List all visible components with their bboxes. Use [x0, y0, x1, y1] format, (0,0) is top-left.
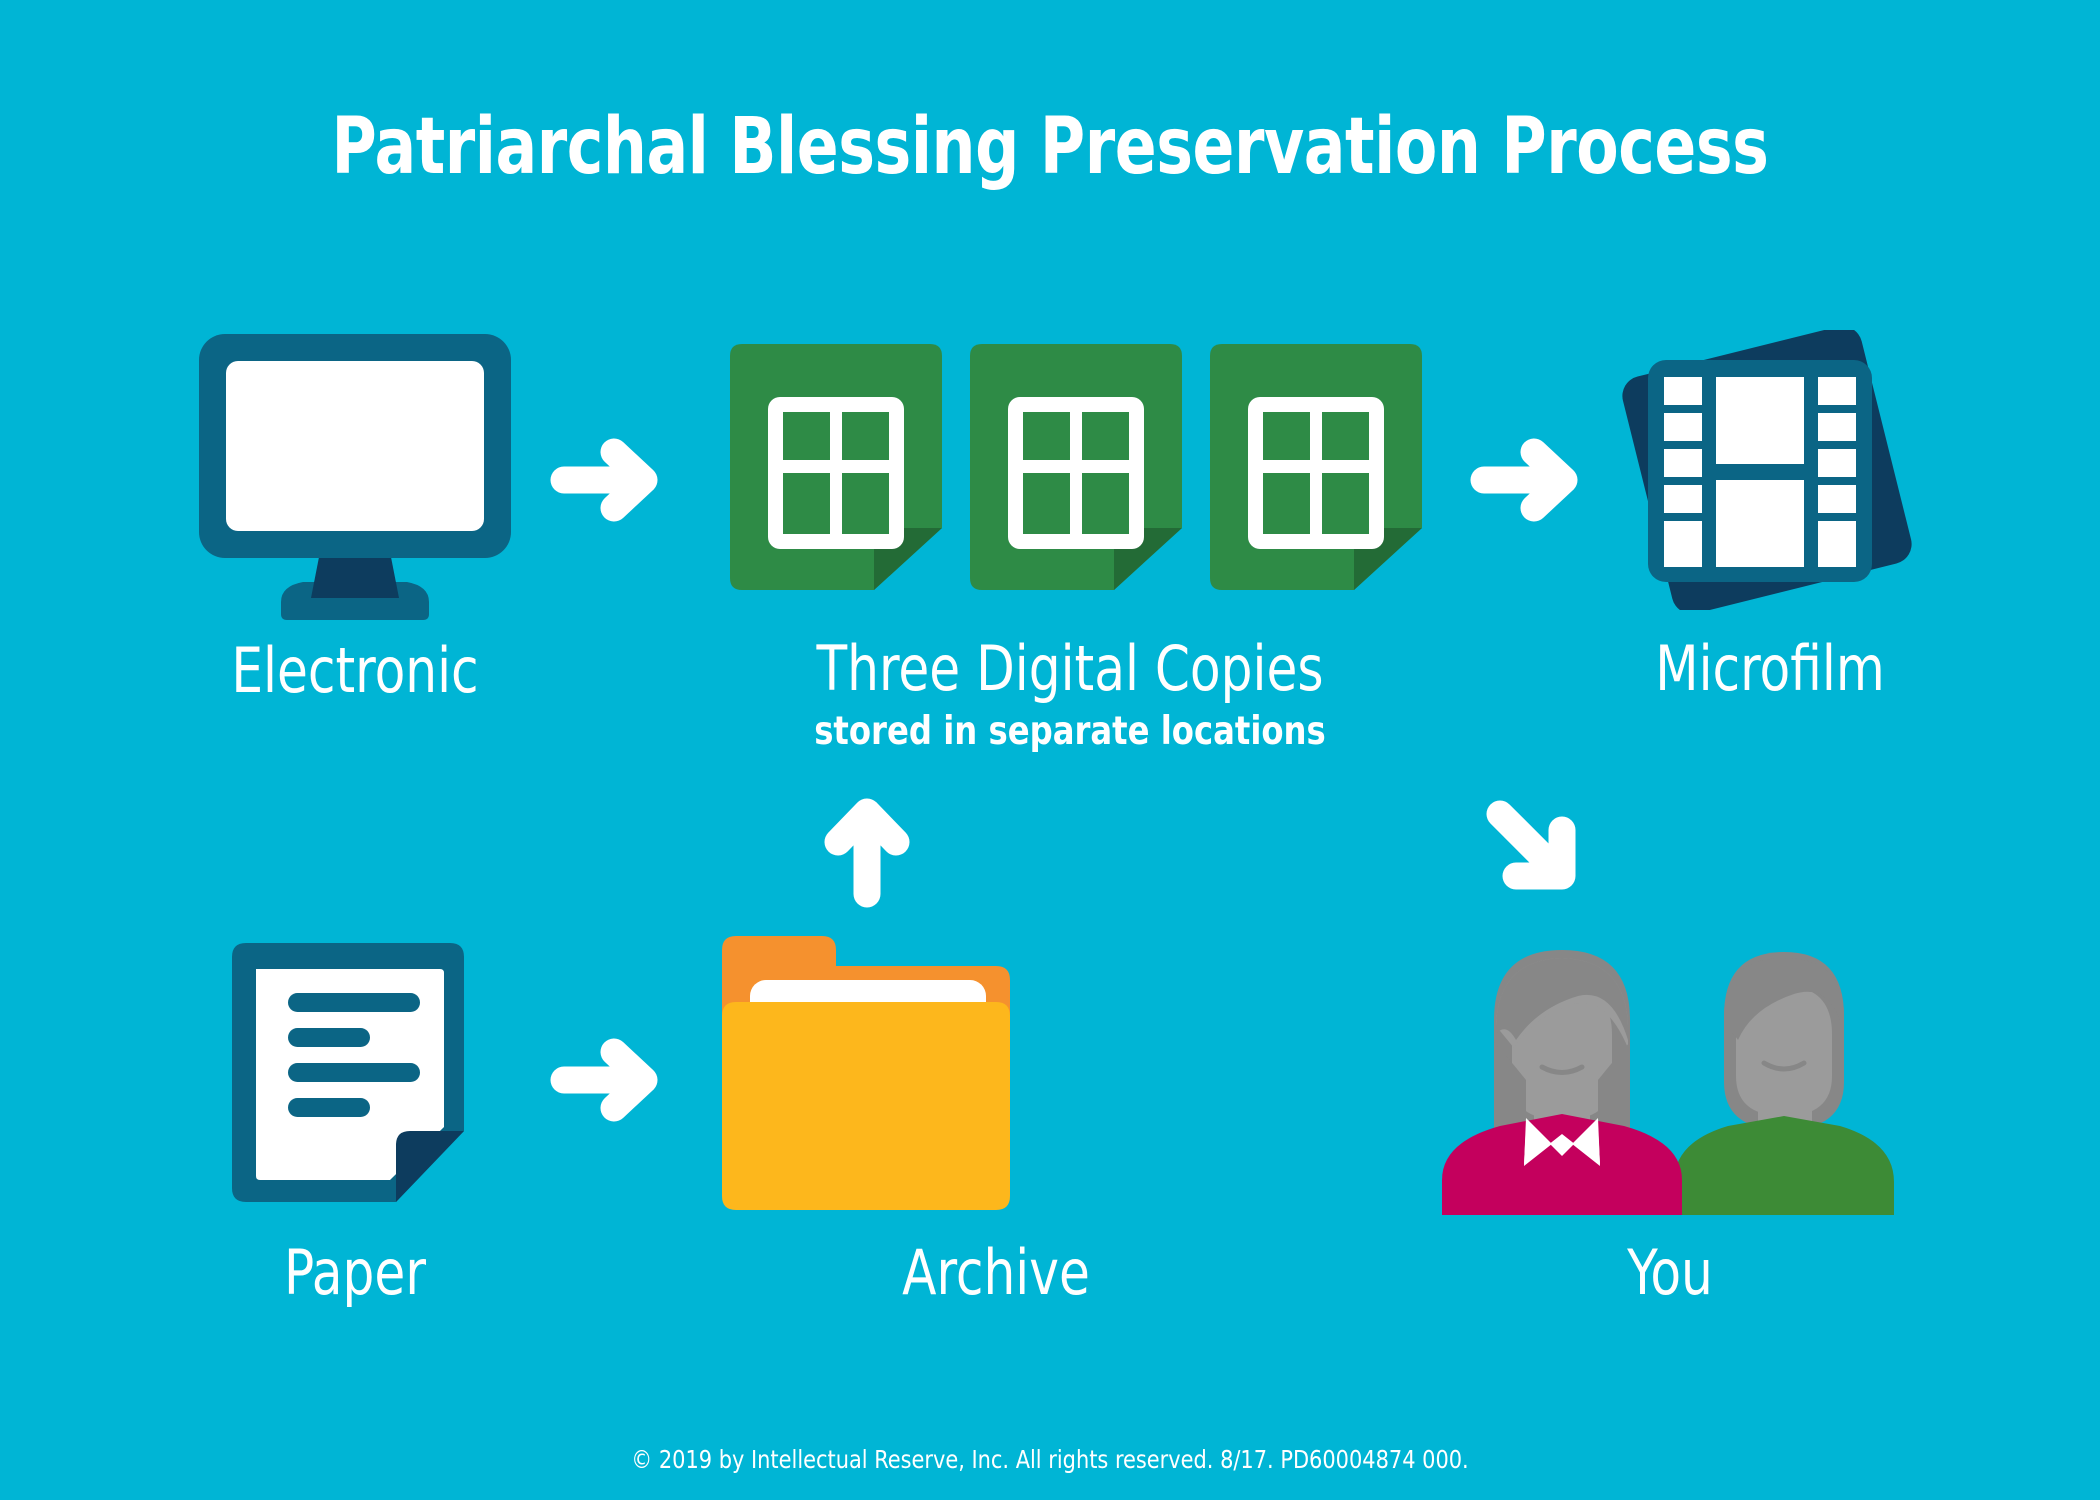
arrow-electronic-to-copies	[548, 430, 678, 530]
sublabel-three-digital-copies: stored in separate locations	[744, 712, 1395, 751]
folder-icon	[718, 932, 1018, 1214]
label-electronic: Electronic	[36, 640, 675, 702]
monitor-icon	[185, 330, 525, 620]
node-you	[1422, 930, 1922, 1215]
node-archive	[718, 932, 1018, 1214]
infographic-canvas: Patriarchal Blessing Preservation Proces…	[0, 0, 2100, 1500]
document-copy-3	[1210, 344, 1422, 590]
arrow-right-icon	[548, 1030, 678, 1130]
arrow-right-icon	[1468, 430, 1598, 530]
label-archive: Archive	[744, 1242, 1248, 1304]
document-copy-2	[970, 344, 1182, 590]
copyright-footer: © 2019 by Intellectual Reserve, Inc. All…	[74, 1445, 2027, 1474]
people-icon	[1422, 930, 1922, 1215]
document-copies-icon	[718, 340, 1422, 600]
arrow-up-icon	[812, 790, 922, 910]
document-copy-1	[730, 344, 942, 590]
arrow-paper-to-archive	[548, 1030, 678, 1130]
film-strip-icon	[1622, 330, 1912, 610]
person-man	[1674, 952, 1894, 1215]
arrow-microfilm-to-you	[1478, 790, 1588, 905]
node-paper	[222, 935, 482, 1210]
node-microfilm	[1622, 330, 1912, 610]
arrow-down-right-icon	[1478, 790, 1588, 905]
paper-document-icon	[222, 935, 482, 1210]
arrow-right-icon	[548, 430, 678, 530]
label-microfilm: Microfilm	[1527, 638, 2013, 700]
arrow-archive-to-copies	[812, 790, 922, 910]
arrow-copies-to-microfilm	[1468, 430, 1598, 530]
page-title: Patriarchal Blessing Preservation Proces…	[126, 108, 1974, 186]
label-three-digital-copies: Three Digital Copies	[751, 638, 1388, 700]
node-electronic	[185, 330, 525, 620]
label-paper: Paper	[36, 1242, 675, 1304]
node-three-digital-copies	[718, 340, 1422, 600]
person-woman	[1442, 950, 1682, 1215]
label-you: You	[1445, 1242, 1895, 1304]
